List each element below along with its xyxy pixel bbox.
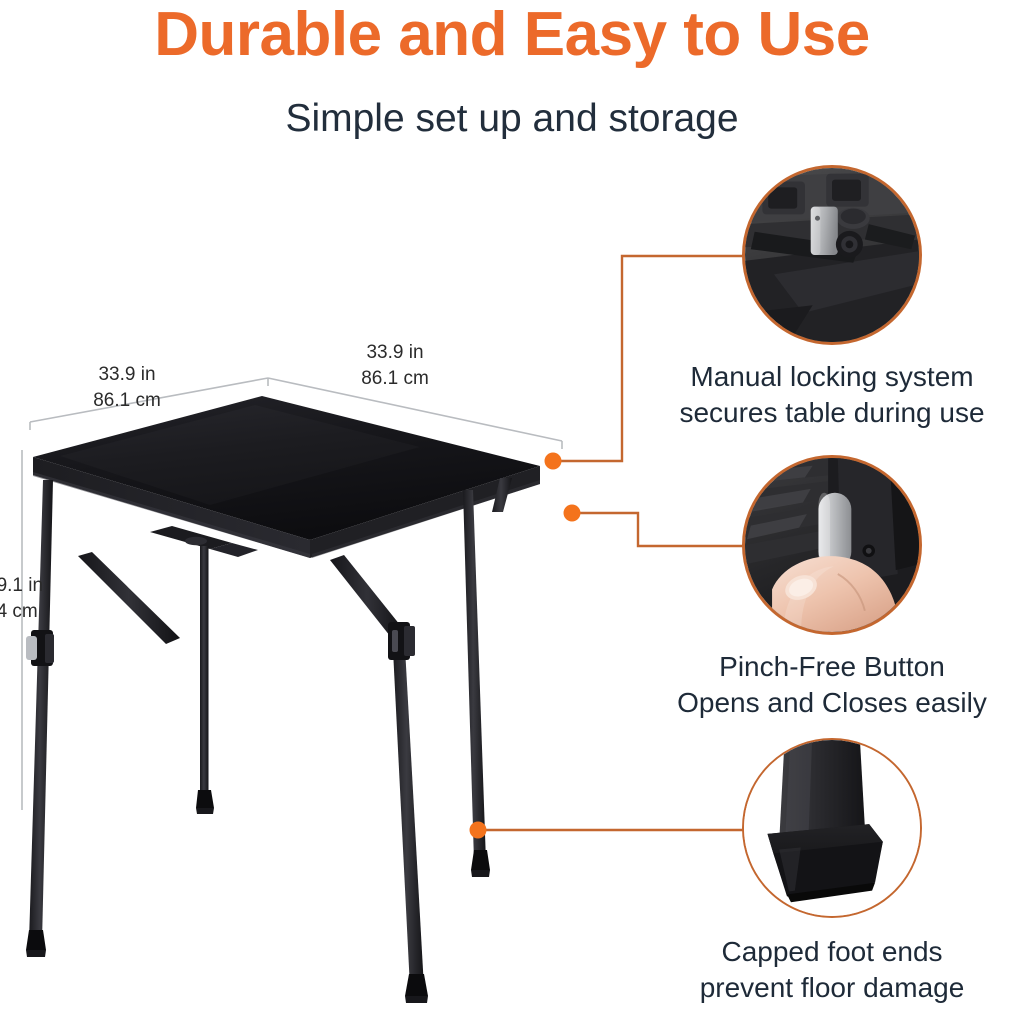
callout-photo-circle-2 — [742, 455, 922, 635]
page-subtitle: Simple set up and storage — [0, 97, 1024, 142]
table-leg-front-right — [330, 555, 428, 1003]
table-leg-right-rear — [463, 490, 490, 877]
callout-pinch-free-button: Pinch-Free Button Opens and Closes easil… — [640, 455, 1024, 722]
callout-caption-1: Manual locking system secures table duri… — [640, 359, 1024, 432]
callout-caption-2: Pinch-Free Button Opens and Closes easil… — [640, 649, 1024, 722]
dimension-width-inches: 33.9 in — [330, 340, 460, 366]
callout-capped-foot-ends: Capped foot ends prevent floor damage — [640, 738, 1024, 1007]
dimension-depth-inches: 33.9 in — [62, 362, 192, 388]
callout-caption-3-line-1: Capped foot ends — [640, 934, 1024, 970]
callout-caption-2-line-2: Opens and Closes easily — [640, 685, 1024, 721]
dimension-label-width: 33.9 in 86.1 cm — [330, 340, 460, 391]
callout-caption-3: Capped foot ends prevent floor damage — [640, 934, 1024, 1007]
table-leg-back-center — [196, 546, 214, 814]
page-title: Durable and Easy to Use — [0, 2, 1024, 67]
callout-photo-circle-1 — [742, 165, 922, 345]
leg-hinge-clamp — [26, 630, 54, 666]
callout-caption-3-line-2: prevent floor damage — [640, 970, 1024, 1006]
thumb-pressing-button-photo — [745, 458, 919, 632]
callout-caption-1-line-2: secures table during use — [640, 395, 1024, 431]
callout-manual-locking-system: Manual locking system secures table duri… — [640, 165, 1024, 432]
table-leg-front-left — [26, 480, 180, 957]
dimension-label-height: 29.1 in 74 cm — [0, 573, 106, 624]
dimension-height-inches: 29.1 in — [0, 573, 106, 599]
infographic-page: Durable and Easy to Use Simple set up an… — [0, 0, 1024, 1025]
callout-photo-wrap-1 — [742, 165, 922, 345]
callout-photo-wrap-2 — [742, 455, 922, 635]
dimension-depth-cm: 86.1 cm — [62, 388, 192, 414]
callout-photo-wrap-3 — [742, 738, 922, 918]
callout-caption-1-line-1: Manual locking system — [640, 359, 1024, 395]
locking-mechanism-photo — [745, 168, 919, 342]
callout-caption-2-line-1: Pinch-Free Button — [640, 649, 1024, 685]
callout-photo-circle-3 — [742, 738, 922, 918]
leg-hinge-clamp — [388, 622, 415, 660]
dimension-height-cm: 74 cm — [0, 599, 106, 625]
dimension-width-cm: 86.1 cm — [330, 366, 460, 392]
dimension-label-depth: 33.9 in 86.1 cm — [62, 362, 192, 413]
capped-foot-photo — [744, 740, 920, 916]
